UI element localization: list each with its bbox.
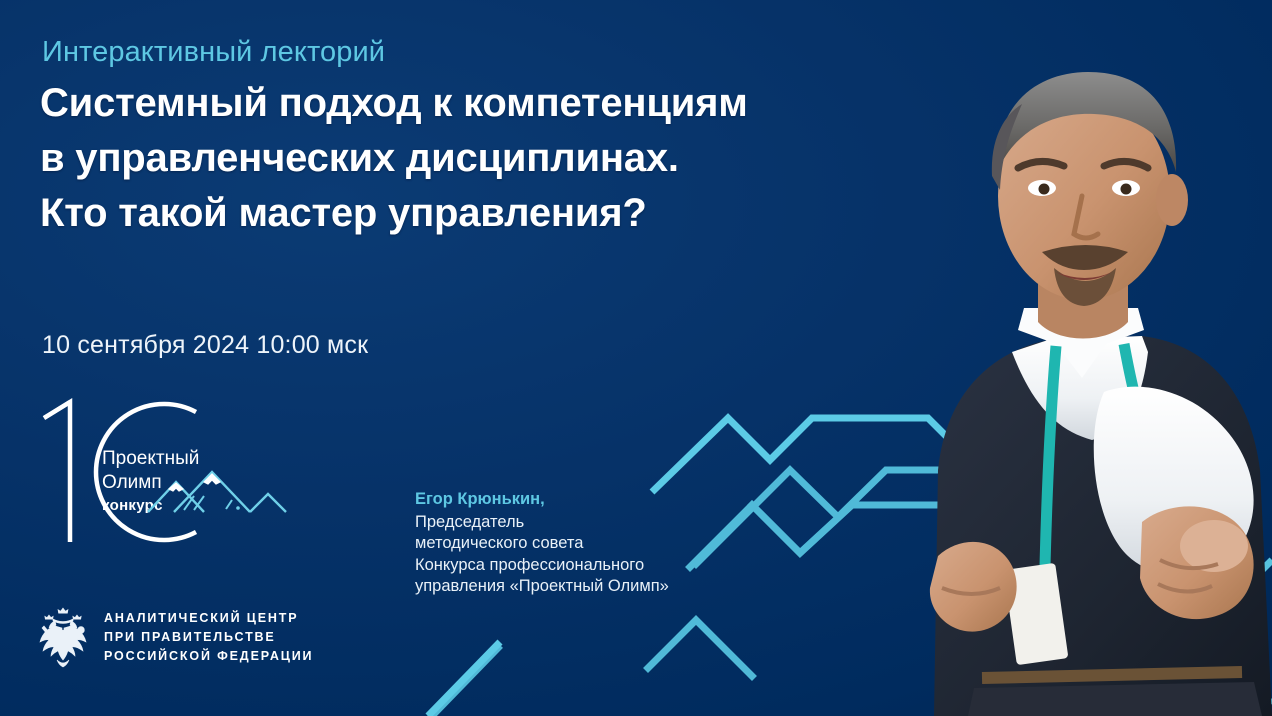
event-datetime: 10 сентября 2024 10:00 мск xyxy=(42,331,368,360)
olimp-logo-line-1: Проектный xyxy=(102,448,199,469)
gov-emblem-block: Аналитический центр при Правительстве Ро… xyxy=(36,606,313,668)
speaker-role-line-3: Конкурса профессионального xyxy=(415,555,669,577)
gov-wordmark-line-2: при Правительстве xyxy=(104,628,313,647)
headline-line-2: в управленческих дисциплинах. xyxy=(40,131,748,186)
page-title: Системный подход к компетенциям в управл… xyxy=(40,76,748,241)
olimp-logo-line-2: Олимп xyxy=(102,472,162,493)
speaker-role-line-1: Председатель xyxy=(415,512,669,534)
mountains-icon xyxy=(148,472,286,512)
speaker-info: Егор Крюнькин, Председатель методическог… xyxy=(415,489,669,598)
eyebrow-label: Интерактивный лекторий xyxy=(42,36,385,69)
russian-coat-of-arms-icon xyxy=(36,606,90,668)
speaker-photo xyxy=(842,0,1272,716)
headline-line-1: Системный подход к компетенциям xyxy=(40,76,748,131)
speaker-name: Егор Крюнькин, xyxy=(415,489,669,511)
speaker-role-line-2: методического совета xyxy=(415,533,669,555)
gov-wordmark-line-1: Аналитический центр xyxy=(104,609,313,628)
gov-emblem-wordmark: Аналитический центр при Правительстве Ро… xyxy=(104,609,313,666)
proektny-olimp-logo: Проектный Олимп конкурс xyxy=(36,396,296,548)
webinar-announcement-slide: Интерактивный лекторий Системный подход … xyxy=(0,0,1272,716)
headline-line-3: Кто такой мастер управления? xyxy=(40,186,748,241)
gov-wordmark-line-3: Российской Федерации xyxy=(104,647,313,666)
speaker-role-line-4: управления «Проектный Олимп» xyxy=(415,576,669,598)
